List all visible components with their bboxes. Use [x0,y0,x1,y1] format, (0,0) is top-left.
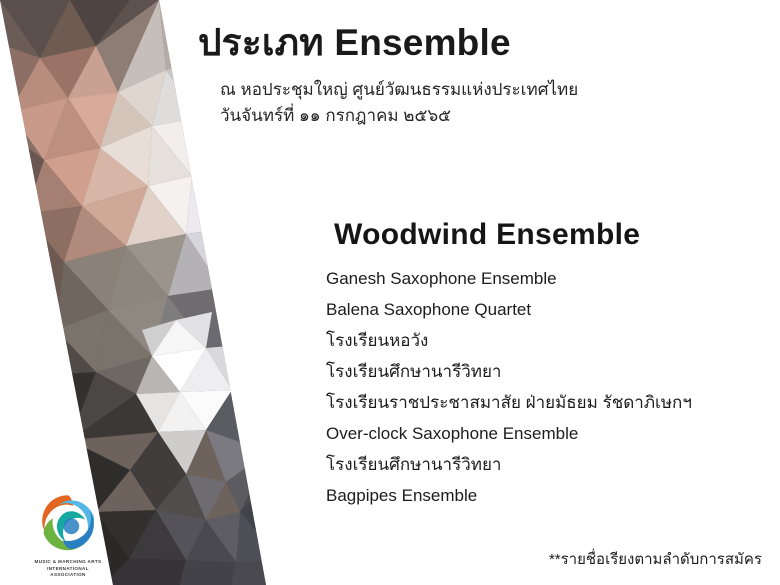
swirl-logo-icon [35,490,101,556]
list-item: Bagpipes Ensemble [326,481,692,512]
list-item: โรงเรียนราชประชาสมาสัย ฝ่ายมัธยม รัชดาภิ… [326,388,692,419]
list-item: โรงเรียนศึกษานารีวิทยา [326,357,692,388]
participant-list: Ganesh Saxophone Ensemble Balena Saxopho… [326,264,692,512]
list-item: Over-clock Saxophone Ensemble [326,419,692,450]
logo-caption: Music & Marching Arts International Asso… [14,559,122,579]
header-block: ประเภท Ensemble ณ หอประชุมใหญ่ ศูนย์วัฒน… [198,22,578,129]
category-heading: Woodwind Ensemble [334,218,692,252]
category-block: Woodwind Ensemble Ganesh Saxophone Ensem… [326,218,692,512]
date-line: วันจันทร์ที่ ๑๑ กรกฎาคม ๒๕๖๕ [220,103,578,129]
association-logo: Music & Marching Arts International Asso… [14,490,122,579]
slide-canvas: Music & Marching Arts International Asso… [0,0,780,585]
venue-line: ณ หอประชุมใหญ่ ศูนย์วัฒนธรรมแห่งประเทศไท… [220,77,578,103]
page-title: ประเภท Ensemble [198,22,578,65]
list-item: โรงเรียนหอวัง [326,326,692,357]
list-item: Ganesh Saxophone Ensemble [326,264,692,295]
list-item: โรงเรียนศึกษานารีวิทยา [326,450,692,481]
list-item: Balena Saxophone Quartet [326,295,692,326]
footnote-text: **รายชื่อเรียงตามลำดับการสมัคร [549,547,762,571]
